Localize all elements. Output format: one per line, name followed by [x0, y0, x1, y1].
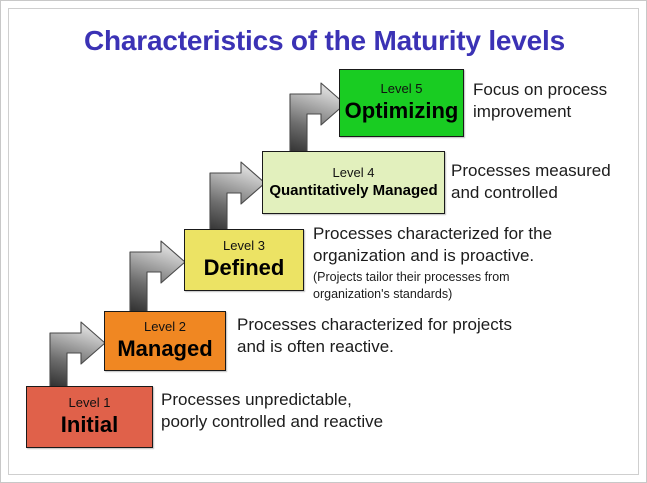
level-number-label: Level 3: [223, 239, 265, 254]
description-note-line: (Projects tailor their processes from: [313, 269, 552, 286]
level-number-label: Level 2: [144, 320, 186, 335]
description-line: Focus on process: [473, 79, 607, 101]
page-title: Characteristics of the Maturity levels: [1, 25, 647, 57]
description-line: Processes characterized for projects: [237, 314, 512, 336]
description-line: poorly controlled and reactive: [161, 411, 383, 433]
description-line: organization and is proactive.: [313, 245, 552, 267]
arrow-level2-to-level3: [127, 238, 189, 314]
description-line: Processes unpredictable,: [161, 389, 383, 411]
level-number-label: Level 5: [381, 82, 423, 97]
level-name-label: Initial: [61, 412, 118, 437]
description-line: and controlled: [451, 182, 611, 204]
maturity-level-box-3[interactable]: Level 3 Defined: [184, 229, 304, 291]
level-description-note-3: (Projects tailor their processes from or…: [313, 269, 552, 302]
arrow-level3-to-level4: [207, 159, 269, 235]
level-description-5: Focus on process improvement: [473, 79, 607, 123]
level-name-label: Managed: [117, 336, 212, 361]
maturity-level-box-1[interactable]: Level 1 Initial: [26, 386, 153, 448]
maturity-level-box-5[interactable]: Level 5 Optimizing: [339, 69, 464, 137]
elbow-arrow-up-right-icon: [127, 238, 189, 314]
description-note-line: organization's standards): [313, 286, 552, 303]
diagram-canvas: Characteristics of the Maturity levels: [0, 0, 647, 483]
description-line: improvement: [473, 101, 607, 123]
level-number-label: Level 1: [69, 396, 111, 411]
maturity-level-box-2[interactable]: Level 2 Managed: [104, 311, 226, 371]
level-name-label: Optimizing: [345, 98, 459, 123]
level-description-4: Processes measured and controlled: [451, 160, 611, 204]
description-line: Processes measured: [451, 160, 611, 182]
level-number-label: Level 4: [333, 166, 375, 181]
level-description-2: Processes characterized for projects and…: [237, 314, 512, 358]
elbow-arrow-up-right-icon: [207, 159, 269, 235]
level-description-3: Processes characterized for the organiza…: [313, 223, 552, 302]
arrow-level1-to-level2: [47, 319, 109, 389]
description-line: Processes characterized for the: [313, 223, 552, 245]
level-name-label: Quantitatively Managed: [269, 182, 437, 199]
description-line: and is often reactive.: [237, 336, 512, 358]
level-description-1: Processes unpredictable, poorly controll…: [161, 389, 383, 433]
maturity-level-box-4[interactable]: Level 4 Quantitatively Managed: [262, 151, 445, 214]
elbow-arrow-up-right-icon: [47, 319, 109, 389]
level-name-label: Defined: [204, 255, 285, 280]
